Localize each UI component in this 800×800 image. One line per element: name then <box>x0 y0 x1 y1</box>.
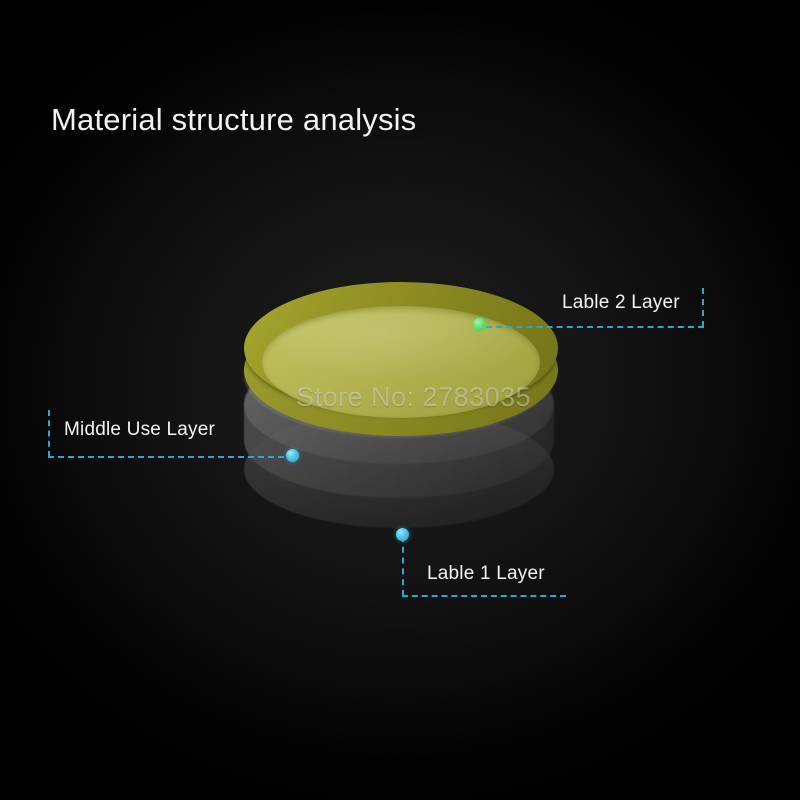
layered-disc-illustration <box>240 282 562 550</box>
callout-middle-marker-dot <box>286 449 299 462</box>
material-structure-diagram: Material structure analysis Store No: 27… <box>0 0 800 800</box>
callout-lable-2-label: Lable 2 Layer <box>562 292 680 314</box>
callout-middle-label: Middle Use Layer <box>64 419 215 441</box>
callout-lable-1-connector-vertical <box>402 536 404 596</box>
callout-lable-1-marker-dot <box>396 528 409 541</box>
callout-middle-connector-vertical <box>48 410 50 457</box>
callout-lable-1-label: Lable 1 Layer <box>427 563 545 585</box>
callout-middle-connector-horizontal <box>48 456 294 458</box>
callout-lable-1-connector-horizontal <box>402 595 566 597</box>
callout-lable-2-connector-horizontal <box>486 326 704 328</box>
callout-lable-2-marker-dot <box>473 318 486 331</box>
callout-lable-2-connector-vertical <box>702 288 704 327</box>
page-title: Material structure analysis <box>51 102 416 138</box>
